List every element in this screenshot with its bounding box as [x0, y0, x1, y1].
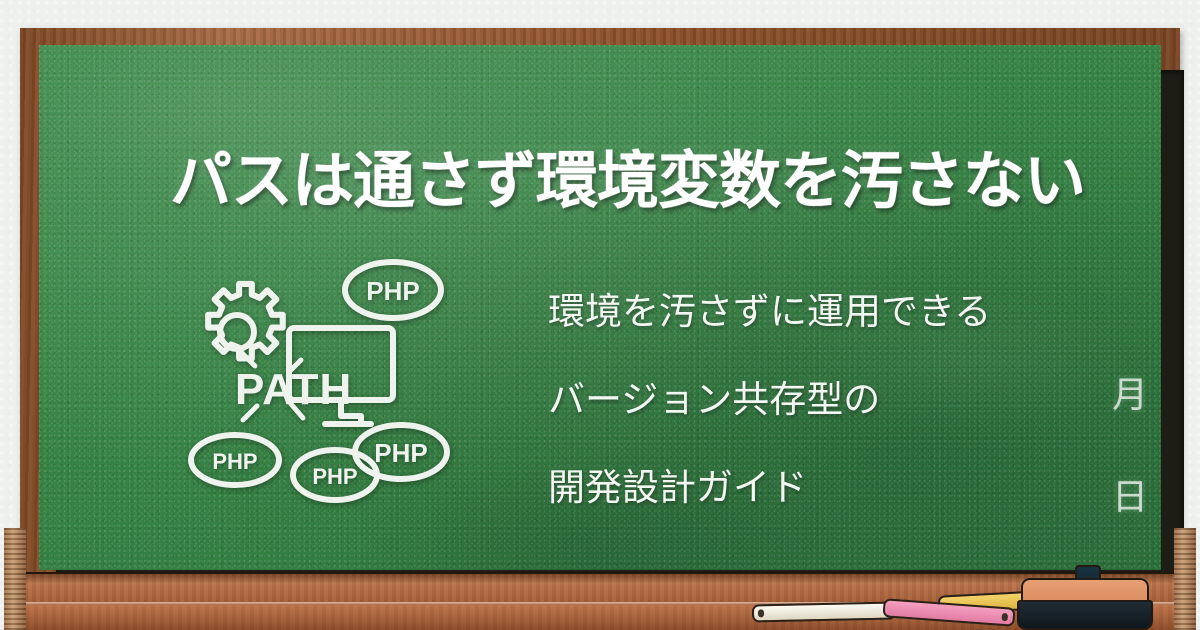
php-bubble-bottom-right: PHP — [355, 425, 447, 479]
subtitle-line-2: バージョン共存型の — [548, 356, 1148, 444]
date-month-character: 月 — [1112, 366, 1148, 418]
eyecatch-canvas: パスは通さず環境変数を汚さない 環境を汚さずに運用できる バージョン共存型の 開… — [0, 0, 1200, 630]
frame-post-left — [4, 528, 26, 630]
blackboard-eraser — [1017, 578, 1149, 626]
path-label: PATH — [235, 365, 352, 414]
php-bubble-bottom-center: PHP — [293, 450, 377, 500]
gear-icon — [208, 278, 283, 358]
php-bubble-label: PHP — [374, 438, 427, 468]
chalk-white — [752, 601, 896, 622]
php-bubble-top-right: PHP — [345, 262, 441, 318]
eraser-felt — [1017, 600, 1153, 630]
php-bubble-label: PHP — [212, 449, 257, 474]
date-day-character: 日 — [1112, 468, 1148, 520]
page-title: パスは通さず環境変数を汚さない — [170, 148, 1070, 215]
php-bubble-label: PHP — [312, 464, 357, 489]
subtitle-block: 環境を汚さずに運用できる バージョン共存型の 開発設計ガイド — [548, 268, 1148, 532]
php-bubble-label: PHP — [366, 276, 419, 306]
chalk-illustration: PATH PHP PHP PHP PHP — [185, 252, 465, 510]
php-bubble-bottom-left: PHP — [191, 435, 279, 485]
frame-post-right — [1174, 528, 1196, 630]
subtitle-line-1: 環境を汚さずに運用できる — [548, 268, 1148, 356]
subtitle-line-3: 開発設計ガイド — [548, 444, 1148, 532]
